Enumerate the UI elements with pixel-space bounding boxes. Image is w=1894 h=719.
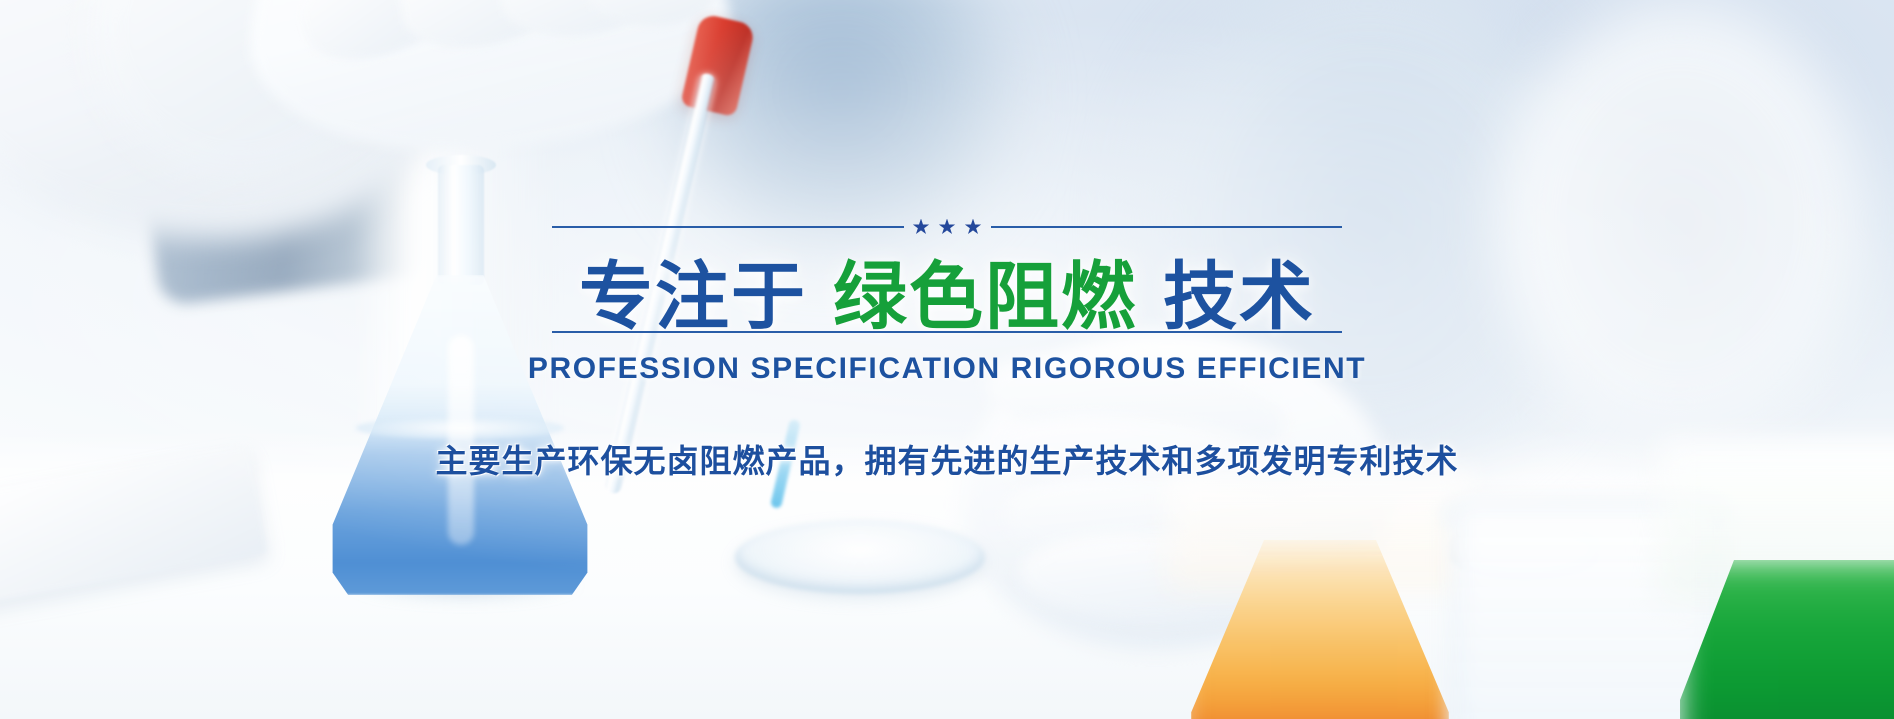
- flask-neck: [438, 165, 484, 285]
- lab-coat-blur-secondary: [1420, 0, 1894, 500]
- banner-background-image: [0, 0, 1894, 719]
- hero-banner: 专注于绿色阻燃技术 PROFESSION SPECIFICATION RIGOR…: [0, 0, 1894, 719]
- petri-dish: [735, 520, 985, 594]
- conical-flask-blue: [330, 165, 590, 595]
- flask-highlight: [448, 335, 474, 545]
